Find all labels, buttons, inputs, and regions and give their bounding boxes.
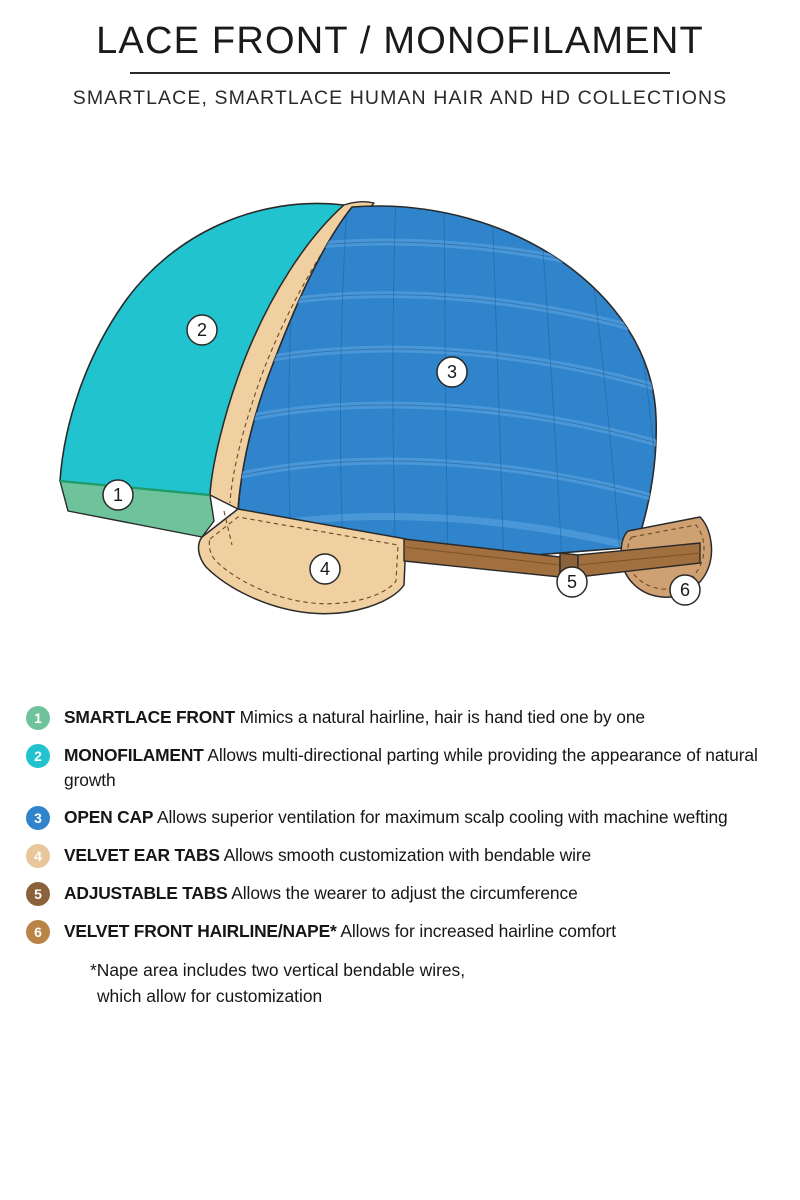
page-header: LACE FRONT / MONOFILAMENT SMARTLACE, SMA… bbox=[0, 0, 800, 110]
legend-desc-1: Mimics a natural hairline, hair is hand … bbox=[235, 707, 645, 727]
legend-bullet-5: 5 bbox=[26, 882, 50, 906]
legend-term-4: VELVET EAR TABS bbox=[64, 845, 220, 865]
cap-illustration: 1 2 3 4 5 6 bbox=[0, 165, 800, 685]
callout-4-label: 4 bbox=[320, 559, 330, 579]
legend-desc-3: Allows superior ventilation for maximum … bbox=[153, 807, 727, 827]
legend-text-4: VELVET EAR TABS Allows smooth customizat… bbox=[50, 843, 782, 868]
legend-text-2: MONOFILAMENT Allows multi-directional pa… bbox=[50, 743, 782, 792]
legend-item-velvet-ear-tabs: 4 VELVET EAR TABS Allows smooth customiz… bbox=[26, 843, 782, 868]
legend-bullet-4: 4 bbox=[26, 844, 50, 868]
callout-6-label: 6 bbox=[680, 580, 690, 600]
callout-4: 4 bbox=[310, 554, 340, 584]
footnote-line-2: which allow for customization bbox=[90, 984, 782, 1009]
page-title: LACE FRONT / MONOFILAMENT bbox=[0, 22, 800, 62]
callout-1: 1 bbox=[103, 480, 133, 510]
legend-bullet-6: 6 bbox=[26, 920, 50, 944]
wig-cap-construction-diagram: 1 2 3 4 5 6 bbox=[0, 165, 800, 685]
legend-desc-4: Allows smooth customization with bendabl… bbox=[220, 845, 591, 865]
footnote-line-1: *Nape area includes two vertical bendabl… bbox=[90, 958, 782, 983]
legend-item-velvet-front-hairline-nape: 6 VELVET FRONT HAIRLINE/NAPE* Allows for… bbox=[26, 919, 782, 944]
page-subtitle: SMARTLACE, SMARTLACE HUMAN HAIR AND HD C… bbox=[0, 87, 800, 110]
title-divider bbox=[130, 72, 670, 74]
callout-2-label: 2 bbox=[197, 320, 207, 340]
legend-bullet-1: 1 bbox=[26, 706, 50, 730]
callout-1-label: 1 bbox=[113, 485, 123, 505]
callout-5: 5 bbox=[557, 567, 587, 597]
legend-item-adjustable-tabs: 5 ADJUSTABLE TABS Allows the wearer to a… bbox=[26, 881, 782, 906]
legend-text-5: ADJUSTABLE TABS Allows the wearer to adj… bbox=[50, 881, 782, 906]
legend-text-1: SMARTLACE FRONT Mimics a natural hairlin… bbox=[50, 705, 782, 730]
nape-footnote: *Nape area includes two vertical bendabl… bbox=[26, 958, 782, 1008]
legend-item-open-cap: 3 OPEN CAP Allows superior ventilation f… bbox=[26, 805, 782, 830]
callout-6: 6 bbox=[670, 575, 700, 605]
legend-item-smartlace-front: 1 SMARTLACE FRONT Mimics a natural hairl… bbox=[26, 705, 782, 730]
legend-term-3: OPEN CAP bbox=[64, 807, 153, 827]
legend-term-5: ADJUSTABLE TABS bbox=[64, 883, 228, 903]
legend-item-monofilament: 2 MONOFILAMENT Allows multi-directional … bbox=[26, 743, 782, 792]
legend-term-6: VELVET FRONT HAIRLINE/NAPE* bbox=[64, 921, 337, 941]
legend-term-2: MONOFILAMENT bbox=[64, 745, 204, 765]
callout-3-label: 3 bbox=[447, 362, 457, 382]
legend-text-3: OPEN CAP Allows superior ventilation for… bbox=[50, 805, 782, 830]
feature-legend: 1 SMARTLACE FRONT Mimics a natural hairl… bbox=[0, 705, 800, 1009]
callout-2: 2 bbox=[187, 315, 217, 345]
legend-text-6: VELVET FRONT HAIRLINE/NAPE* Allows for i… bbox=[50, 919, 782, 944]
legend-term-1: SMARTLACE FRONT bbox=[64, 707, 235, 727]
legend-bullet-2: 2 bbox=[26, 744, 50, 768]
legend-bullet-3: 3 bbox=[26, 806, 50, 830]
legend-desc-5: Allows the wearer to adjust the circumfe… bbox=[228, 883, 578, 903]
legend-desc-6: Allows for increased hairline comfort bbox=[337, 921, 616, 941]
callout-5-label: 5 bbox=[567, 572, 577, 592]
callout-3: 3 bbox=[437, 357, 467, 387]
